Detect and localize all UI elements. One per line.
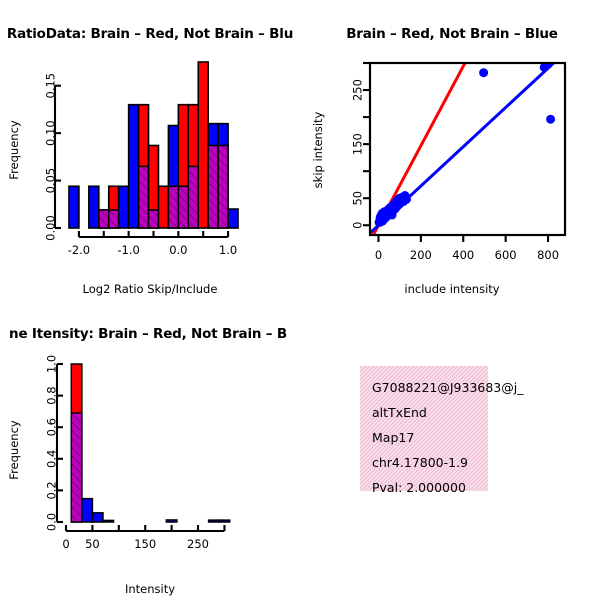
panel-info-box: G7088221@J933683@j_altTxEndMap17chr4.178… (300, 300, 600, 600)
y-tick-label: 1.0 (45, 355, 59, 373)
y-tick-label: 0.8 (45, 386, 59, 404)
intensity-scatter-axes: 0501502500200400600800 (351, 63, 560, 262)
y-tick-label: 0.4 (45, 450, 59, 468)
info-line-pvalue: Pval: 2.000000 (372, 480, 466, 495)
histogram-bar-overlap (139, 166, 149, 228)
histogram-bar (92, 513, 103, 522)
histogram-bar (166, 520, 177, 522)
x-tick-label: -1.0 (117, 243, 139, 257)
histogram-bar-overlap (149, 210, 159, 228)
y-tick-label: 0.05 (44, 168, 58, 194)
y-tick-label: 0.6 (45, 418, 59, 436)
histogram-bar-overlap (188, 166, 198, 228)
y-tick-label: 50 (351, 191, 365, 206)
gene-histogram-bars (71, 364, 229, 522)
y-tick-label: 0.10 (44, 120, 58, 146)
histogram-bar (219, 520, 230, 522)
intensity-scatter-ylabel: skip intensity (311, 111, 325, 188)
histogram-bar-overlap (178, 186, 188, 228)
info-line-locus: chr4.17800-1.9 (372, 455, 468, 470)
histogram-bar (198, 62, 208, 228)
scatter-point (479, 68, 488, 77)
x-tick-label: 0.0 (169, 243, 187, 257)
histogram-bar (228, 209, 238, 228)
histogram-bar-overlap (99, 210, 109, 228)
histogram-bar (82, 499, 93, 522)
ratio-histogram-title: RatioData: Brain – Red, Not Brain – Blu (7, 26, 293, 42)
histogram-bar (103, 520, 114, 522)
x-tick-label: 400 (452, 248, 474, 262)
y-tick-label: 0 (351, 222, 365, 229)
y-tick-label: 150 (351, 133, 365, 155)
x-tick-label: 50 (85, 537, 100, 551)
y-tick-label: 0.00 (44, 215, 58, 241)
x-tick-label: -2.0 (68, 243, 90, 257)
histogram-bar (158, 186, 168, 228)
x-tick-label: 0 (62, 537, 69, 551)
gene-histogram-title: ne Itensity: Brain – Red, Not Brain – B (9, 326, 287, 342)
histogram-bar (89, 186, 99, 228)
info-line-event-type: altTxEnd (372, 405, 427, 420)
histogram-bar (69, 186, 79, 228)
x-tick-label: 800 (537, 248, 559, 262)
x-tick-label: 150 (134, 537, 156, 551)
histogram-bar (119, 186, 129, 228)
y-tick-label: 0.2 (45, 481, 59, 499)
scatter-point (544, 60, 553, 69)
x-tick-label: 0 (375, 248, 382, 262)
ratio-histogram-xlabel: Log2 Ratio Skip/Include (83, 282, 218, 296)
scatter-point (546, 115, 555, 124)
histogram-bar-overlap (218, 145, 228, 228)
info-line-probeset-id: G7088221@J933683@j_ (372, 380, 524, 395)
histogram-bar (129, 105, 139, 228)
panel-gene-histogram: ne Itensity: Brain – Red, Not Brain – B … (0, 300, 300, 600)
panel-intensity-scatter: Brain – Red, Not Brain – Blue 0501502500… (300, 0, 600, 300)
x-tick-label: 1.0 (219, 243, 237, 257)
histogram-bar-overlap (208, 145, 218, 228)
info-line-gene-symbol: Map17 (372, 430, 414, 445)
x-tick-label: 200 (410, 248, 432, 262)
histogram-bar-overlap (71, 413, 82, 522)
ratio-histogram-bars (69, 62, 238, 228)
figure-canvas: RatioData: Brain – Red, Not Brain – Blu … (0, 0, 600, 600)
histogram-bar-overlap (109, 210, 119, 228)
y-tick-label: 250 (351, 79, 365, 101)
x-tick-label: 250 (187, 537, 209, 551)
gene-histogram-xlabel: Intensity (125, 582, 175, 596)
x-tick-label: 600 (495, 248, 517, 262)
gene-histogram-ylabel: Frequency (7, 420, 21, 480)
intensity-scatter-title: Brain – Red, Not Brain – Blue (346, 26, 558, 42)
intensity-scatter-xlabel: include intensity (404, 282, 499, 296)
scatter-point (402, 195, 411, 204)
ratio-histogram-ylabel: Frequency (7, 120, 21, 180)
histogram-bar-overlap (168, 186, 178, 228)
panel-ratio-histogram: RatioData: Brain – Red, Not Brain – Blu … (0, 0, 300, 300)
histogram-bar (209, 520, 220, 522)
y-tick-label: 0.15 (44, 73, 58, 99)
y-tick-label: 0.0 (45, 513, 59, 531)
